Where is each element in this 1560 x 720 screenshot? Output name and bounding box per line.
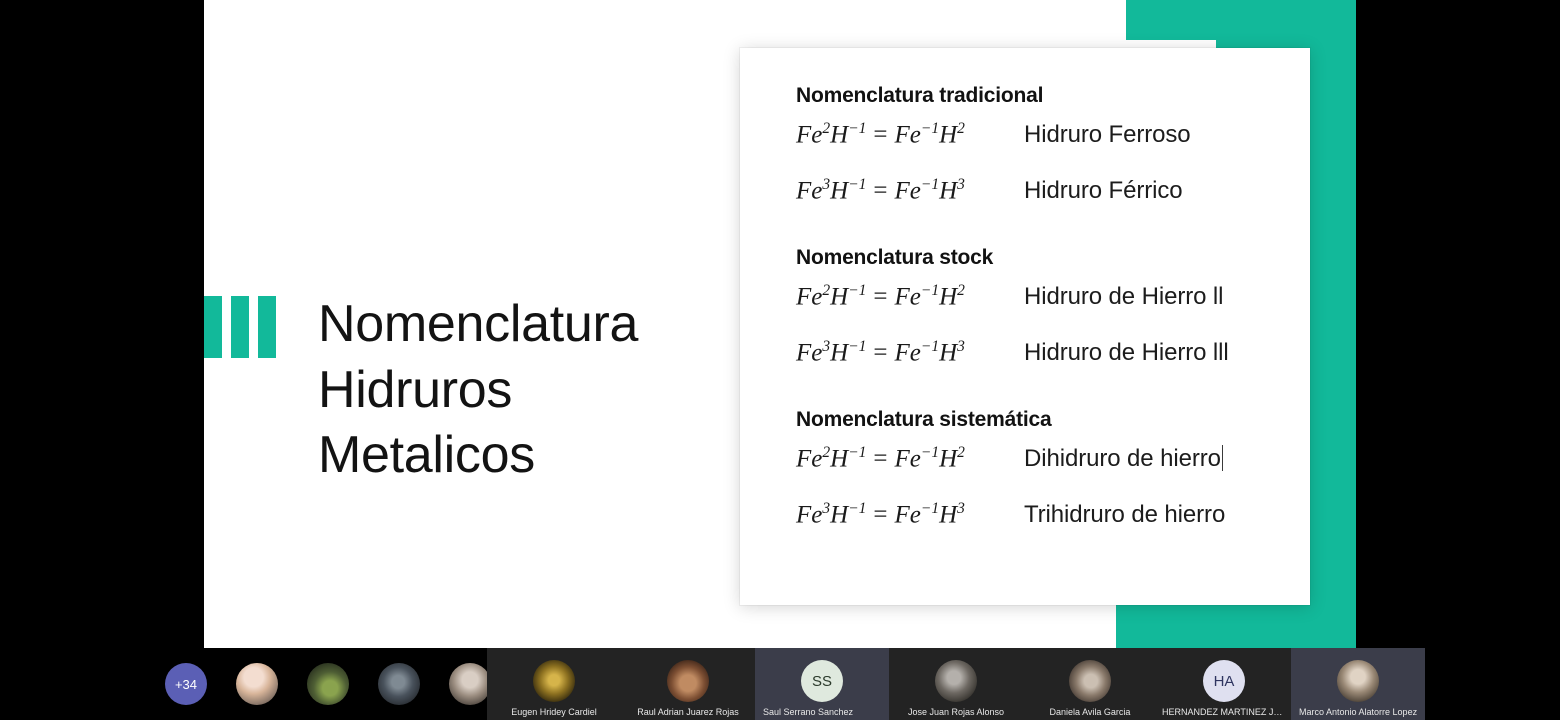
compound-name: Trihidruro de hierro [1024,501,1225,529]
participant-name-label: Marco Antonio Alatorre Lopez [1291,707,1425,717]
participant-video-avatar [1069,660,1111,702]
slide-title: Nomenclatura Hidruros Metalicos [318,292,738,489]
participant-tile-rail: Eugen Hridey CardielRaul Adrian Juarez R… [487,648,1425,720]
participant-video-avatar [533,660,575,702]
document-content: Nomenclatura tradicionalFe2H−1=Fe−1H2Hid… [740,48,1310,550]
presentation-stage: Nomenclatura Hidruros Metalicos Nomencla… [0,0,1560,648]
participant-tile[interactable]: Daniela Avila Garcia [1023,648,1157,720]
accent-notch-top [1126,0,1216,40]
compound-name: Hidruro de Hierro ll [1024,283,1223,311]
participant-name-label: Daniela Avila Garcia [1023,707,1157,717]
formula-row: Fe2H−1=Fe−1H2Hidruro de Hierro ll [796,282,1276,332]
formula-row: Fe2H−1=Fe−1H2Hidruro Ferroso [796,120,1276,170]
participant-video-avatar [1337,660,1379,702]
section-heading: Nomenclatura tradicional [796,84,1276,108]
participant-video-avatar [935,660,977,702]
meeting-screen-share-view: Nomenclatura Hidruros Metalicos Nomencla… [0,0,1560,720]
participant-name-label: Saul Serrano Sanchez [755,707,889,717]
participant-initials-avatar: HA [1203,660,1245,702]
decorator-bar-3 [258,296,276,358]
chemical-formula: Fe3H−1=Fe−1H3 [796,176,1024,205]
decorator-bar-1 [204,296,222,358]
document-card[interactable]: Nomenclatura tradicionalFe2H−1=Fe−1H2Hid… [740,48,1310,605]
participant-tile[interactable]: Marco Antonio Alatorre Lopez [1291,648,1425,720]
participant-filmstrip: +34 Eugen Hridey CardielRaul Adrian Juar… [0,648,1560,720]
compound-name: Hidruro Férrico [1024,177,1183,205]
overflow-participants-badge[interactable]: +34 [165,663,207,705]
formula-row: Fe3H−1=Fe−1H3Hidruro de Hierro lll [796,338,1276,388]
participant-name-label: Raul Adrian Juarez Rojas [621,707,755,717]
section-heading: Nomenclatura sistemática [796,408,1276,432]
participant-name-label: HERNANDEZ MARTINEZ JUAN ANT... [1157,707,1291,717]
compound-name: Hidruro de Hierro lll [1024,339,1229,367]
participant-avatar-4[interactable] [449,663,491,705]
participant-tile[interactable]: Eugen Hridey Cardiel [487,648,621,720]
participant-tile[interactable]: SSSaul Serrano Sanchez [755,648,889,720]
compound-name: Hidruro Ferroso [1024,121,1191,149]
formula-row: Fe3H−1=Fe−1H3Hidruro Férrico [796,176,1276,226]
title-decorator-bars [204,296,276,358]
participant-name-label: Eugen Hridey Cardiel [487,707,621,717]
formula-row: Fe2H−1=Fe−1H2Dihidruro de hierro [796,444,1276,494]
participant-avatar-3[interactable] [378,663,420,705]
participant-avatar-2[interactable] [307,663,349,705]
compound-name: Dihidruro de hierro [1024,445,1223,473]
participant-tile[interactable]: Raul Adrian Juarez Rojas [621,648,755,720]
participant-initials-avatar: SS [801,660,843,702]
participant-tile[interactable]: Jose Juan Rojas Alonso [889,648,1023,720]
chemical-formula: Fe3H−1=Fe−1H3 [796,500,1024,529]
chemical-formula: Fe3H−1=Fe−1H3 [796,338,1024,367]
decorator-bar-2 [231,296,249,358]
participant-name-label: Jose Juan Rojas Alonso [889,707,1023,717]
text-cursor [1222,445,1224,471]
overflow-avatar-rail: +34 [0,648,487,720]
chemical-formula: Fe2H−1=Fe−1H2 [796,120,1024,149]
participant-avatar-1[interactable] [236,663,278,705]
chemical-formula: Fe2H−1=Fe−1H2 [796,282,1024,311]
participant-video-avatar [667,660,709,702]
participant-tile[interactable]: HAHERNANDEZ MARTINEZ JUAN ANT... [1157,648,1291,720]
formula-row: Fe3H−1=Fe−1H3Trihidruro de hierro [796,500,1276,550]
chemical-formula: Fe2H−1=Fe−1H2 [796,444,1024,473]
section-heading: Nomenclatura stock [796,246,1276,270]
slide-canvas: Nomenclatura Hidruros Metalicos Nomencla… [204,0,1356,648]
